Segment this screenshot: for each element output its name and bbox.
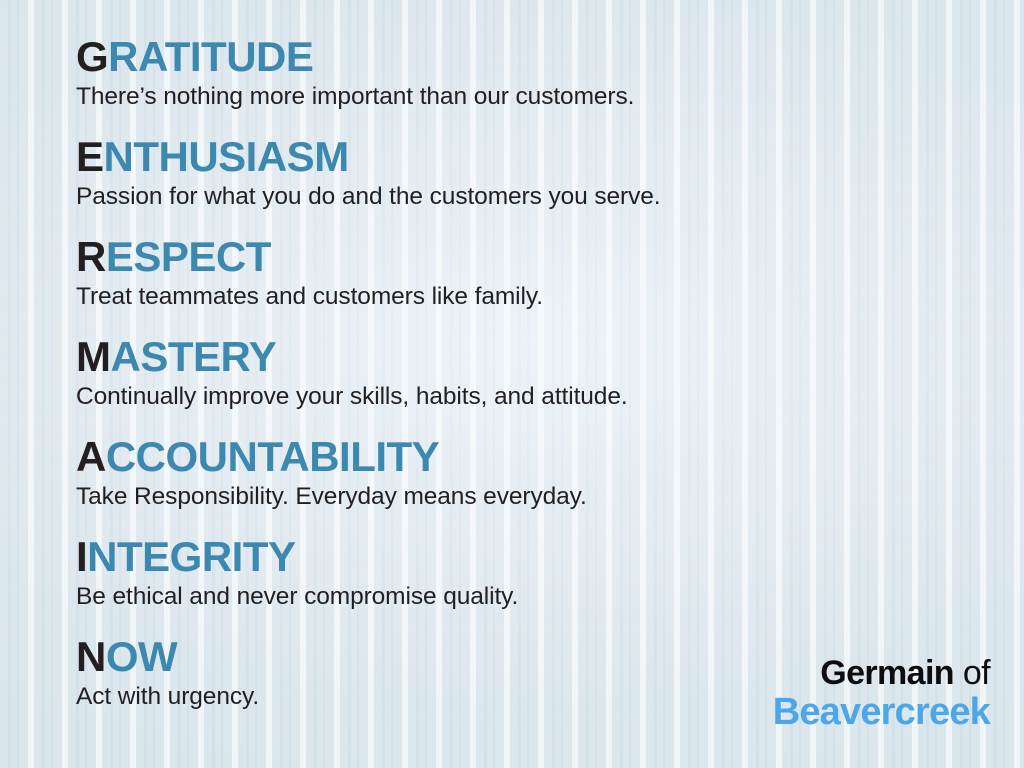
value-word-accountability: ACCOUNTABILITY bbox=[76, 434, 976, 480]
value-word-gratitude: GRATITUDE bbox=[76, 34, 976, 80]
value-block-accountability: ACCOUNTABILITY Take Responsibility. Ever… bbox=[76, 434, 976, 534]
value-word-remainder: ASTERY bbox=[111, 333, 277, 380]
brand-logo-connector: of bbox=[954, 654, 990, 692]
value-block-respect: RESPECT Treat teammates and customers li… bbox=[76, 234, 976, 334]
value-block-gratitude: GRATITUDE There’s nothing more important… bbox=[76, 34, 976, 134]
value-word-mastery: MASTERY bbox=[76, 334, 976, 380]
value-initial-letter: N bbox=[76, 633, 106, 680]
value-block-mastery: MASTERY Continually improve your skills,… bbox=[76, 334, 976, 434]
value-block-enthusiasm: ENTHUSIASM Passion for what you do and t… bbox=[76, 134, 976, 234]
value-word-respect: RESPECT bbox=[76, 234, 976, 280]
value-word-remainder: RATITUDE bbox=[108, 33, 313, 80]
value-initial-letter: M bbox=[76, 333, 111, 380]
value-block-integrity: INTEGRITY Be ethical and never compromis… bbox=[76, 534, 976, 634]
value-description-respect: Treat teammates and customers like famil… bbox=[76, 281, 976, 313]
value-word-remainder: CCOUNTABILITY bbox=[106, 433, 439, 480]
value-word-remainder: OW bbox=[106, 633, 177, 680]
value-description-accountability: Take Responsibility. Everyday means ever… bbox=[76, 481, 976, 513]
value-description-gratitude: There’s nothing more important than our … bbox=[76, 81, 976, 113]
value-description-mastery: Continually improve your skills, habits,… bbox=[76, 381, 976, 413]
brand-logo-location: Beavercreek bbox=[773, 692, 990, 732]
value-word-enthusiasm: ENTHUSIASM bbox=[76, 134, 976, 180]
brand-logo-name: Germain bbox=[820, 654, 954, 692]
value-initial-letter: G bbox=[76, 33, 108, 80]
value-word-integrity: INTEGRITY bbox=[76, 534, 976, 580]
value-initial-letter: E bbox=[76, 133, 104, 180]
value-initial-letter: A bbox=[76, 433, 106, 480]
values-poster: GRATITUDE There’s nothing more important… bbox=[0, 0, 1024, 768]
value-word-remainder: NTEGRITY bbox=[87, 533, 295, 580]
value-word-remainder: ESPECT bbox=[106, 233, 271, 280]
brand-logo-line-name: Germain of bbox=[773, 654, 990, 692]
value-initial-letter: I bbox=[76, 533, 87, 580]
brand-logo: Germain of Beavercreek bbox=[773, 654, 990, 732]
value-description-enthusiasm: Passion for what you do and the customer… bbox=[76, 181, 976, 213]
core-values-list: GRATITUDE There’s nothing more important… bbox=[76, 34, 976, 734]
value-word-remainder: NTHUSIASM bbox=[104, 133, 349, 180]
value-initial-letter: R bbox=[76, 233, 106, 280]
value-description-integrity: Be ethical and never compromise quality. bbox=[76, 581, 976, 613]
